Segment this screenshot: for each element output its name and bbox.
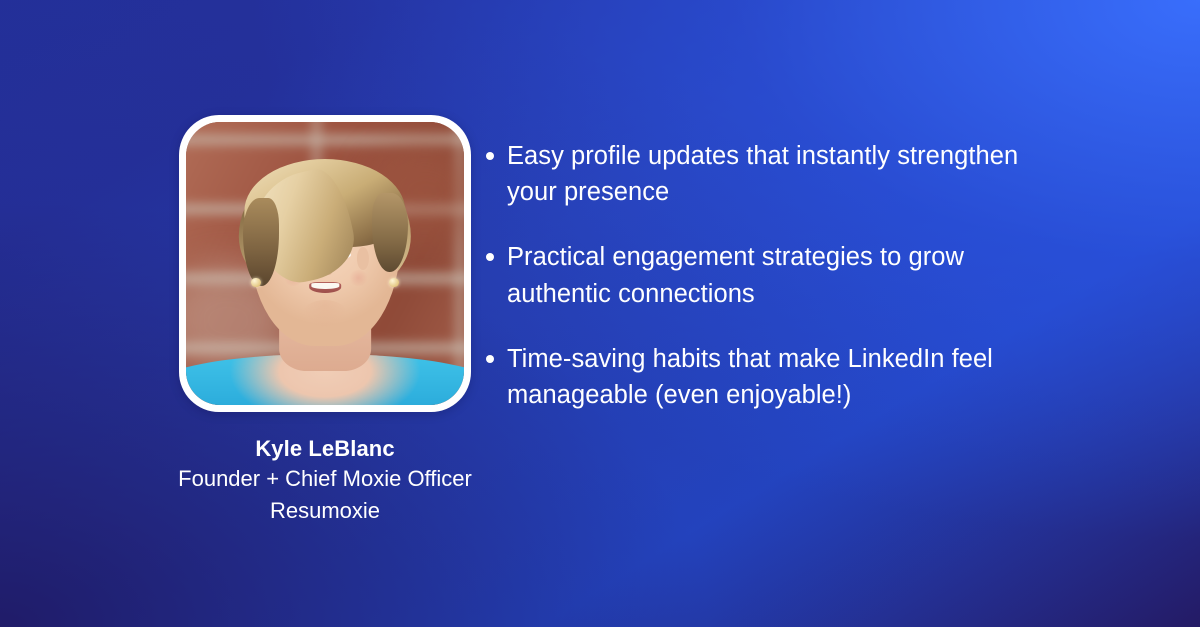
speaker-photo [186, 122, 464, 405]
earring-left [251, 278, 260, 288]
bullet-icon [486, 152, 494, 160]
speaker-block: Kyle LeBlanc Founder + Chief Moxie Offic… [150, 115, 500, 527]
benefit-text: Time-saving habits that make LinkedIn fe… [507, 345, 993, 409]
benefits-list: Easy profile updates that instantly stre… [481, 138, 1041, 413]
presentation-slide: Kyle LeBlanc Founder + Chief Moxie Offic… [0, 0, 1200, 627]
earring-right [389, 278, 398, 288]
benefit-text: Easy profile updates that instantly stre… [507, 142, 1018, 206]
list-item: Easy profile updates that instantly stre… [481, 138, 1041, 210]
speaker-caption: Kyle LeBlanc Founder + Chief Moxie Offic… [150, 436, 500, 527]
chin [302, 300, 347, 328]
mouth [309, 282, 341, 294]
cheek-right [348, 270, 369, 286]
teeth [311, 283, 339, 289]
slide-content: Kyle LeBlanc Founder + Chief Moxie Offic… [0, 0, 1200, 627]
list-item: Practical engagement strategies to grow … [481, 239, 1041, 311]
list-item: Time-saving habits that make LinkedIn fe… [481, 341, 1041, 413]
speaker-company: Resumoxie [150, 495, 500, 527]
speaker-photo-frame [179, 115, 471, 412]
speaker-name: Kyle LeBlanc [150, 436, 500, 463]
benefit-text: Practical engagement strategies to grow … [507, 243, 964, 307]
ear-right [357, 247, 369, 270]
bullet-icon [486, 355, 494, 363]
speaker-role: Founder + Chief Moxie Officer [150, 463, 500, 495]
bullet-icon [486, 253, 494, 261]
